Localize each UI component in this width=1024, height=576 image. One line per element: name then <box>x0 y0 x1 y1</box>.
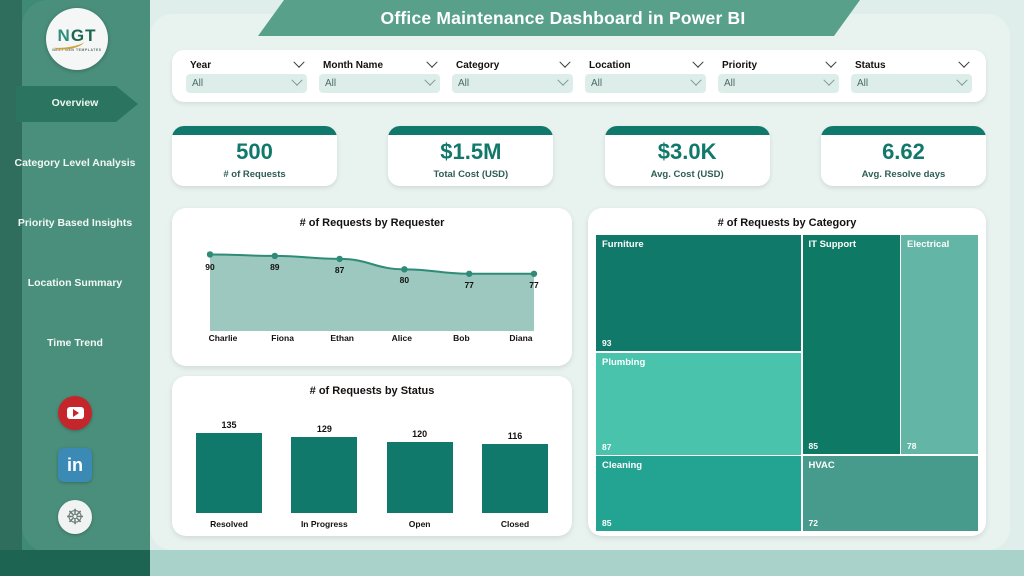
treemap-tile-label: IT Support <box>809 239 857 250</box>
treemap-tile-label: Cleaning <box>602 460 642 471</box>
area-data-label: 87 <box>335 265 344 275</box>
kpi-value: $1.5M <box>440 141 501 163</box>
slicer-year: Year All <box>180 60 313 93</box>
slicer-header[interactable]: Location <box>585 60 706 74</box>
slicer-label: Year <box>190 60 211 71</box>
slicer-label: Category <box>456 60 499 71</box>
kpi-value: 500 <box>236 141 273 163</box>
slicer-label: Priority <box>722 60 757 71</box>
website-icon[interactable]: ☸ <box>58 500 92 534</box>
slicer-header[interactable]: Category <box>452 60 573 74</box>
slicer-value: All <box>192 78 203 89</box>
chevron-down-icon <box>559 57 570 68</box>
sidebar-item-location-summary[interactable]: Location Summary <box>0 266 150 302</box>
bar-column[interactable]: 120 <box>387 405 453 513</box>
chevron-down-icon <box>823 75 834 86</box>
treemap-tile[interactable]: Furniture93 <box>596 235 801 351</box>
chevron-down-icon <box>825 57 836 68</box>
slicer-category: Category All <box>446 60 579 93</box>
bottom-accent-strip <box>0 550 1024 576</box>
slicer-dropdown[interactable]: All <box>452 74 573 93</box>
bar-data-label: 135 <box>221 420 236 430</box>
slicer-value: All <box>458 78 469 89</box>
kpi-row: 500 # of Requests $1.5M Total Cost (USD)… <box>172 126 986 190</box>
youtube-play-glyph <box>67 407 84 419</box>
slicer-location: Location All <box>579 60 712 93</box>
kpi-label: Total Cost (USD) <box>433 169 508 180</box>
treemap-plot: Furniture93Plumbing87Cleaning85IT Suppor… <box>596 235 978 531</box>
treemap-tile-label: HVAC <box>809 460 835 471</box>
axis-tick-label: Open <box>387 519 453 529</box>
treemap-tile-value: 78 <box>907 441 916 451</box>
chevron-down-icon <box>426 57 437 68</box>
bar-data-label: 129 <box>317 424 332 434</box>
kpi-label: # of Requests <box>223 169 285 180</box>
axis-tick-label: In Progress <box>291 519 357 529</box>
sidebar-bottom-accent <box>0 550 150 576</box>
slicer-header[interactable]: Year <box>186 60 307 74</box>
chart-requests-by-status[interactable]: # of Requests by Status 135129120116 Res… <box>172 376 572 536</box>
kpi-card-avg-resolve-days[interactable]: 6.62 Avg. Resolve days <box>821 126 986 186</box>
youtube-icon[interactable] <box>58 396 92 430</box>
slicer-dropdown[interactable]: All <box>186 74 307 93</box>
sidebar-item-overview[interactable]: Overview <box>0 86 150 122</box>
bar-rect[interactable] <box>196 433 262 513</box>
area-plot: 908987807777 <box>172 231 572 335</box>
bar-column[interactable]: 129 <box>291 405 357 513</box>
slicer-value: All <box>325 78 336 89</box>
slicer-status: Status All <box>845 60 978 93</box>
slicer-priority: Priority All <box>712 60 845 93</box>
area-data-label: 77 <box>464 280 473 290</box>
chart-title: # of Requests by Requester <box>172 208 572 229</box>
slicer-header[interactable]: Priority <box>718 60 839 74</box>
chevron-down-icon <box>293 57 304 68</box>
sidebar-item-priority-based-insights[interactable]: Priority Based Insights <box>0 206 150 242</box>
filter-bar: Year All Month Name All Category <box>172 50 986 102</box>
social-links: in ☸ <box>0 396 150 534</box>
area-data-label: 89 <box>270 262 279 272</box>
slicer-dropdown[interactable]: All <box>851 74 972 93</box>
bar-rect[interactable] <box>387 442 453 513</box>
treemap-tile-value: 85 <box>809 441 818 451</box>
treemap-tile[interactable]: Cleaning85 <box>596 456 801 531</box>
sidebar-item-label: Location Summary <box>28 277 123 290</box>
kpi-card-avg-cost[interactable]: $3.0K Avg. Cost (USD) <box>605 126 770 186</box>
globe-glyph: ☸ <box>66 507 85 528</box>
chart-title: # of Requests by Category <box>588 208 986 229</box>
page-title: Office Maintenance Dashboard in Power BI <box>381 8 746 29</box>
area-data-label: 77 <box>529 280 538 290</box>
bar-rect[interactable] <box>291 437 357 514</box>
dashboard-root: Office Maintenance Dashboard in Power BI… <box>0 0 1024 576</box>
kpi-label: Avg. Cost (USD) <box>651 169 724 180</box>
sidebar-item-label: Category Level Analysis <box>15 157 136 170</box>
treemap-tile-value: 93 <box>602 338 611 348</box>
kpi-card-requests[interactable]: 500 # of Requests <box>172 126 337 186</box>
kpi-label: Avg. Resolve days <box>862 169 946 180</box>
axis-tick-label: Resolved <box>196 519 262 529</box>
treemap-tile-label: Plumbing <box>602 357 645 368</box>
bar-data-label: 116 <box>508 431 523 441</box>
header-banner: Office Maintenance Dashboard in Power BI <box>258 0 860 36</box>
area-chart-svg <box>172 231 572 335</box>
chevron-down-icon <box>956 75 967 86</box>
kpi-value: 6.62 <box>882 141 925 163</box>
bar-rect[interactable] <box>482 444 548 513</box>
bar-column[interactable]: 116 <box>482 405 548 513</box>
chevron-down-icon <box>557 75 568 86</box>
sidebar-item-label: Time Trend <box>47 337 103 350</box>
sidebar-item-category-level-analysis[interactable]: Category Level Analysis <box>0 146 150 182</box>
slicer-label: Month Name <box>323 60 383 71</box>
slicer-value: All <box>724 78 735 89</box>
slicer-dropdown[interactable]: All <box>319 74 440 93</box>
slicer-month-name: Month Name All <box>313 60 446 93</box>
linkedin-glyph: in <box>67 456 83 474</box>
bar-data-label: 120 <box>412 429 427 439</box>
treemap-tile-label: Electrical <box>907 239 949 250</box>
sidebar-item-time-trend[interactable]: Time Trend <box>0 326 150 362</box>
area-data-label: 90 <box>205 262 214 272</box>
slicer-dropdown[interactable]: All <box>718 74 839 93</box>
slicer-value: All <box>591 78 602 89</box>
kpi-card-total-cost[interactable]: $1.5M Total Cost (USD) <box>388 126 553 186</box>
slicer-header[interactable]: Month Name <box>319 60 440 74</box>
logo-letter-t: T <box>85 26 96 45</box>
sidebar-item-label: Priority Based Insights <box>18 217 132 230</box>
chart-requests-by-requester[interactable]: # of Requests by Requester 908987807777 … <box>172 208 572 366</box>
kpi-value: $3.0K <box>658 141 717 163</box>
chevron-down-icon <box>690 75 701 86</box>
slicer-label: Status <box>855 60 886 71</box>
treemap-tile[interactable]: IT Support85 <box>803 235 900 454</box>
bar-x-axis: ResolvedIn ProgressOpenClosed <box>196 519 548 529</box>
treemap-tile-value: 87 <box>602 442 611 452</box>
chevron-down-icon <box>291 75 302 86</box>
chart-requests-by-category[interactable]: # of Requests by Category Furniture93Plu… <box>588 208 986 536</box>
bar-column[interactable]: 135 <box>196 405 262 513</box>
area-data-label: 80 <box>400 275 409 285</box>
sidebar: NGT NEXT GEN TEMPLATES Overview Category… <box>0 0 150 576</box>
slicer-header[interactable]: Status <box>851 60 972 74</box>
sidebar-nav: Overview Category Level Analysis Priorit… <box>0 86 150 386</box>
bar-plot: 135129120116 <box>196 405 548 513</box>
treemap-tile-value: 85 <box>602 518 611 528</box>
treemap-tile-label: Furniture <box>602 239 644 250</box>
treemap-tile-value: 72 <box>809 518 818 528</box>
slicer-label: Location <box>589 60 631 71</box>
treemap-tile[interactable]: Electrical78 <box>901 235 978 454</box>
linkedin-icon[interactable]: in <box>58 448 92 482</box>
slicer-dropdown[interactable]: All <box>585 74 706 93</box>
chart-title: # of Requests by Status <box>172 376 572 397</box>
sidebar-item-label: Overview <box>52 97 99 110</box>
treemap-tile[interactable]: HVAC72 <box>803 456 979 531</box>
chevron-down-icon <box>424 75 435 86</box>
slicer-value: All <box>857 78 868 89</box>
axis-tick-label: Closed <box>482 519 548 529</box>
chevron-down-icon <box>692 57 703 68</box>
brand-logo: NGT NEXT GEN TEMPLATES <box>46 8 108 70</box>
chevron-down-icon <box>958 57 969 68</box>
treemap-tile[interactable]: Plumbing87 <box>596 353 801 455</box>
